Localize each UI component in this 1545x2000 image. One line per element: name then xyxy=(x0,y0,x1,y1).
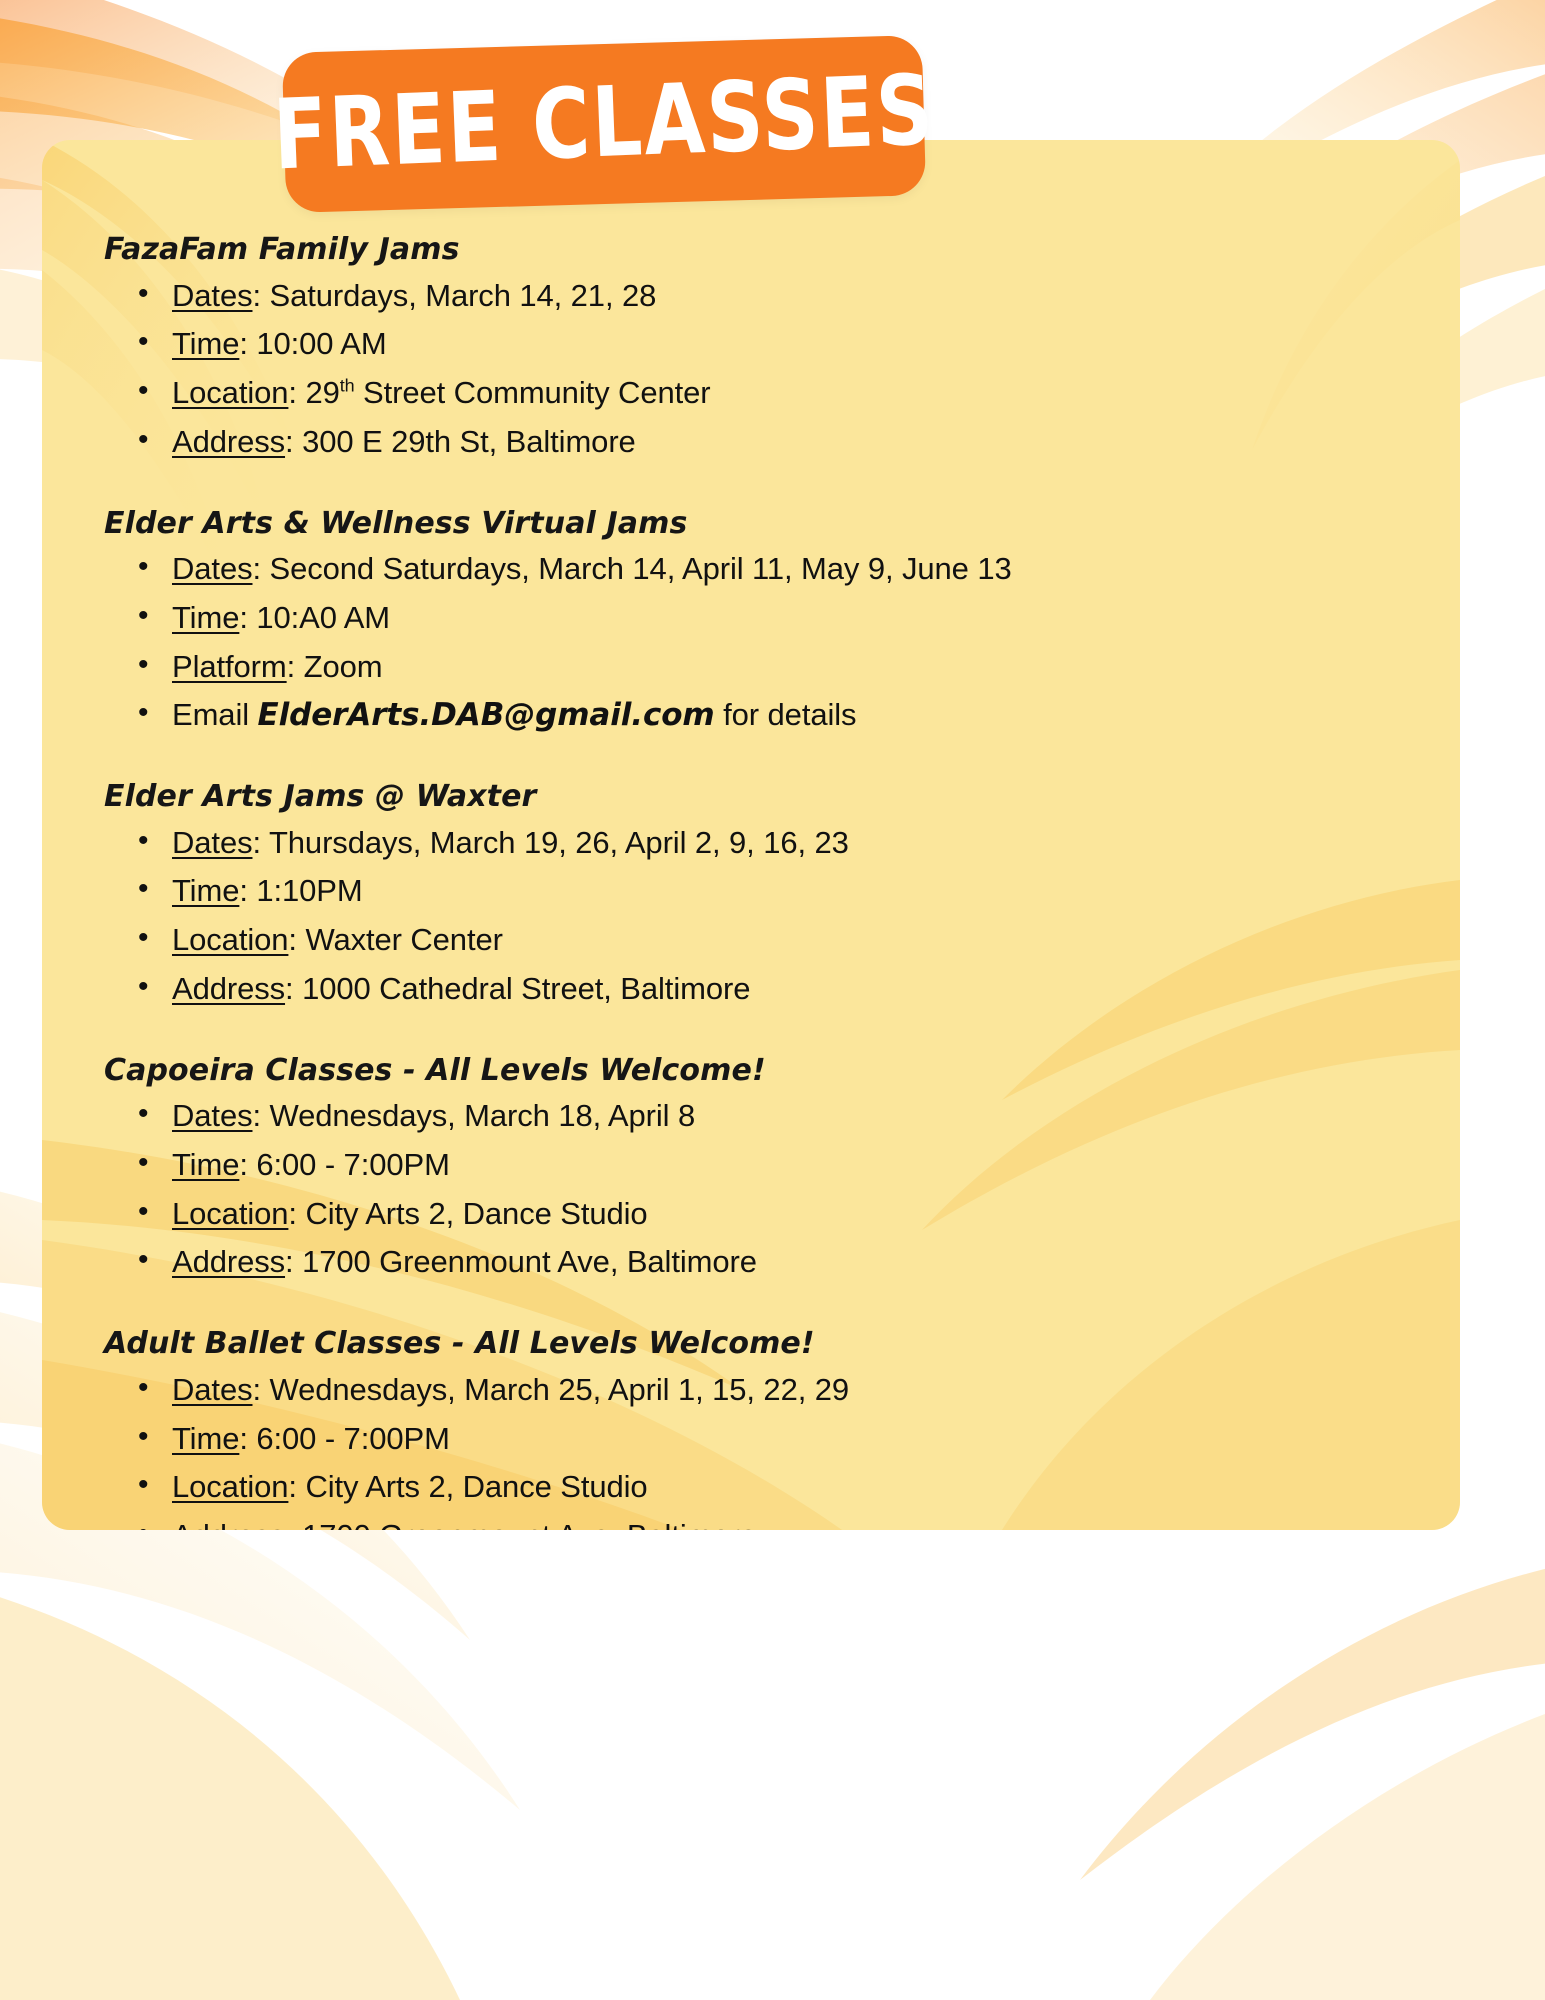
detail-separator: : xyxy=(239,600,256,635)
section-heading: Elder Arts & Wellness Virtual Jams xyxy=(104,504,1440,545)
detail-value: 6:00 - 7:00PM xyxy=(256,1421,449,1456)
detail-label: Address xyxy=(172,424,285,459)
email-suffix-text: for details xyxy=(715,697,857,732)
detail-value: Wednesdays, March 18, April 8 xyxy=(270,1098,696,1133)
list-item-time: Time: 10:00 AM xyxy=(62,323,1440,366)
list-item-time: Time: 10:A0 AM xyxy=(62,597,1440,640)
content-card: FazaFam Family Jams Dates: Saturdays, Ma… xyxy=(42,140,1460,1530)
section-detail-list: Dates: Wednesdays, March 25, April 1, 15… xyxy=(62,1369,1440,1530)
detail-separator: : xyxy=(288,1469,305,1504)
detail-label: Location xyxy=(172,1469,288,1504)
detail-separator: : xyxy=(239,1147,256,1182)
detail-label: Dates xyxy=(172,1372,252,1407)
section-detail-list: Dates: Thursdays, March 19, 26, April 2,… xyxy=(62,822,1440,1011)
list-item-address: Address: 1700 Greenmount Ave, Baltimore xyxy=(62,1241,1440,1284)
free-classes-banner: FREE CLASSES xyxy=(282,35,926,213)
list-item-time: Time: 6:00 - 7:00PM xyxy=(62,1418,1440,1461)
detail-separator: : xyxy=(239,873,256,908)
detail-value: 6:00 - 7:00PM xyxy=(256,1147,449,1182)
section-detail-list: Dates: Second Saturdays, March 14, April… xyxy=(62,548,1440,737)
list-item-dates: Dates: Second Saturdays, March 14, April… xyxy=(62,548,1440,591)
detail-separator: : xyxy=(285,1244,302,1279)
list-item-location: Location: Waxter Center xyxy=(62,919,1440,962)
class-section-capoeira-classes: Capoeira Classes - All Levels Welcome! D… xyxy=(62,1051,1440,1285)
class-listings: FazaFam Family Jams Dates: Saturdays, Ma… xyxy=(62,230,1440,1530)
detail-label: Dates xyxy=(172,1098,252,1133)
detail-label: Dates xyxy=(172,825,252,860)
detail-value: Saturdays, March 14, 21, 28 xyxy=(270,278,657,313)
list-item-address: Address: 300 E 29th St, Baltimore xyxy=(62,421,1440,464)
detail-separator: : xyxy=(288,922,305,957)
class-section-elder-arts-jams-waxter: Elder Arts Jams @ Waxter Dates: Thursday… xyxy=(62,777,1440,1011)
email-prefix-text: Email xyxy=(172,697,258,732)
detail-label: Address xyxy=(172,971,285,1006)
detail-value: Waxter Center xyxy=(305,922,502,957)
detail-separator: : xyxy=(285,971,302,1006)
detail-label: Platform xyxy=(172,649,287,684)
list-item-email-contact: Email ElderArts.DAB@gmail.com for detail… xyxy=(62,694,1440,737)
detail-value: Second Saturdays, March 14, April 11, Ma… xyxy=(270,551,1012,586)
detail-label: Time xyxy=(172,326,239,361)
section-detail-list: Dates: Saturdays, March 14, 21, 28 Time:… xyxy=(62,275,1440,464)
list-item-dates: Dates: Wednesdays, March 25, April 1, 15… xyxy=(62,1369,1440,1412)
list-item-location: Location: City Arts 2, Dance Studio xyxy=(62,1193,1440,1236)
detail-separator: : xyxy=(285,1518,302,1530)
detail-label: Location xyxy=(172,375,288,410)
class-section-elder-arts-wellness-virtual-jams: Elder Arts & Wellness Virtual Jams Dates… xyxy=(62,504,1440,738)
detail-value: 10:A0 AM xyxy=(256,600,390,635)
list-item-time: Time: 6:00 - 7:00PM xyxy=(62,1144,1440,1187)
detail-value: 1:10PM xyxy=(256,873,362,908)
detail-value: City Arts 2, Dance Studio xyxy=(305,1196,647,1231)
detail-label: Address xyxy=(172,1244,285,1279)
detail-label: Address xyxy=(172,1518,285,1530)
detail-value: 10:00 AM xyxy=(256,326,386,361)
detail-label: Location xyxy=(172,922,288,957)
detail-value-suffix: Street Community Center xyxy=(355,375,711,410)
detail-separator: : xyxy=(288,375,305,410)
section-detail-list: Dates: Wednesdays, March 18, April 8 Tim… xyxy=(62,1095,1440,1284)
detail-value: 1700 Greenmount Ave, Baltimore xyxy=(302,1518,757,1530)
detail-label: Time xyxy=(172,1147,239,1182)
flyer-page: FazaFam Family Jams Dates: Saturdays, Ma… xyxy=(0,0,1545,2000)
section-heading: Capoeira Classes - All Levels Welcome! xyxy=(104,1051,1440,1092)
list-item-address: Address: 1700 Greenmount Ave, Baltimore xyxy=(62,1515,1440,1530)
detail-separator: : xyxy=(252,551,269,586)
detail-separator: : xyxy=(239,1421,256,1456)
detail-value: Zoom xyxy=(304,649,383,684)
detail-separator: : xyxy=(287,649,304,684)
list-item-time: Time: 1:10PM xyxy=(62,870,1440,913)
detail-separator: : xyxy=(252,1098,269,1133)
detail-label: Dates xyxy=(172,278,252,313)
detail-label: Time xyxy=(172,600,239,635)
list-item-address: Address: 1000 Cathedral Street, Baltimor… xyxy=(62,968,1440,1011)
detail-value: Wednesdays, March 25, April 1, 15, 22, 2… xyxy=(270,1372,850,1407)
detail-label: Time xyxy=(172,873,239,908)
section-heading: FazaFam Family Jams xyxy=(104,230,1440,271)
list-item-dates: Dates: Wednesdays, March 18, April 8 xyxy=(62,1095,1440,1138)
detail-value: 1700 Greenmount Ave, Baltimore xyxy=(302,1244,757,1279)
list-item-location: Location: City Arts 2, Dance Studio xyxy=(62,1466,1440,1509)
ordinal-suffix: th xyxy=(340,376,355,396)
detail-label: Dates xyxy=(172,551,252,586)
detail-separator: : xyxy=(285,424,302,459)
detail-value: 1000 Cathedral Street, Baltimore xyxy=(302,971,750,1006)
detail-value: 300 E 29th St, Baltimore xyxy=(302,424,636,459)
banner-title: FREE CLASSES xyxy=(293,18,914,230)
section-heading: Adult Ballet Classes - All Levels Welcom… xyxy=(104,1324,1440,1365)
list-item-platform: Platform: Zoom xyxy=(62,646,1440,689)
detail-separator: : xyxy=(239,326,256,361)
detail-value-prefix: 29 xyxy=(305,375,339,410)
class-section-fazafam-family-jams: FazaFam Family Jams Dates: Saturdays, Ma… xyxy=(62,230,1440,464)
section-heading: Elder Arts Jams @ Waxter xyxy=(104,777,1440,818)
list-item-dates: Dates: Thursdays, March 19, 26, April 2,… xyxy=(62,822,1440,865)
detail-label: Location xyxy=(172,1196,288,1231)
class-section-adult-ballet-classes: Adult Ballet Classes - All Levels Welcom… xyxy=(62,1324,1440,1530)
email-address[interactable]: ElderArts.DAB@gmail.com xyxy=(258,697,715,733)
detail-label: Time xyxy=(172,1421,239,1456)
detail-value: Thursdays, March 19, 26, April 2, 9, 16,… xyxy=(269,825,849,860)
detail-value: City Arts 2, Dance Studio xyxy=(305,1469,647,1504)
list-item-dates: Dates: Saturdays, March 14, 21, 28 xyxy=(62,275,1440,318)
detail-separator: : xyxy=(288,1196,305,1231)
detail-separator: : xyxy=(252,825,268,860)
detail-separator: : xyxy=(252,278,269,313)
detail-separator: : xyxy=(252,1372,269,1407)
list-item-location: Location: 29th Street Community Center xyxy=(62,372,1440,415)
